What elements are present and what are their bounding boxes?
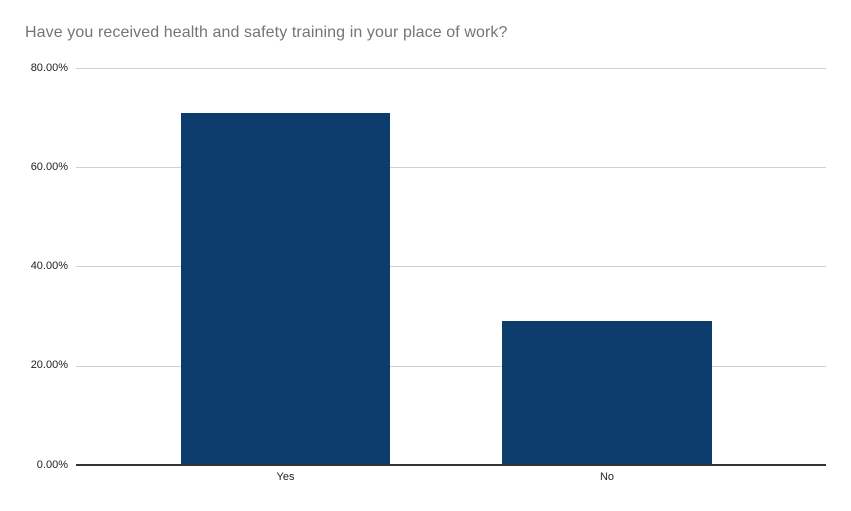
gridline-80: [76, 68, 826, 69]
bar-chart: Have you received health and safety trai…: [0, 0, 851, 511]
y-tick-label-0: 0.00%: [4, 459, 68, 471]
bar-no[interactable]: [502, 321, 712, 465]
plot-area: [76, 68, 826, 465]
y-tick-label-20: 20.00%: [4, 359, 68, 371]
x-tick-label-yes: Yes: [181, 471, 390, 484]
y-tick-label-60: 60.00%: [4, 161, 68, 173]
bar-yes[interactable]: [181, 113, 390, 465]
chart-title: Have you received health and safety trai…: [25, 23, 508, 43]
x-axis-line: [76, 464, 826, 466]
x-tick-label-no: No: [502, 471, 712, 484]
y-tick-label-40: 40.00%: [4, 260, 68, 272]
y-tick-label-80: 80.00%: [4, 62, 68, 74]
y-axis: 80.00% 60.00% 40.00% 20.00% 0.00%: [0, 0, 68, 511]
